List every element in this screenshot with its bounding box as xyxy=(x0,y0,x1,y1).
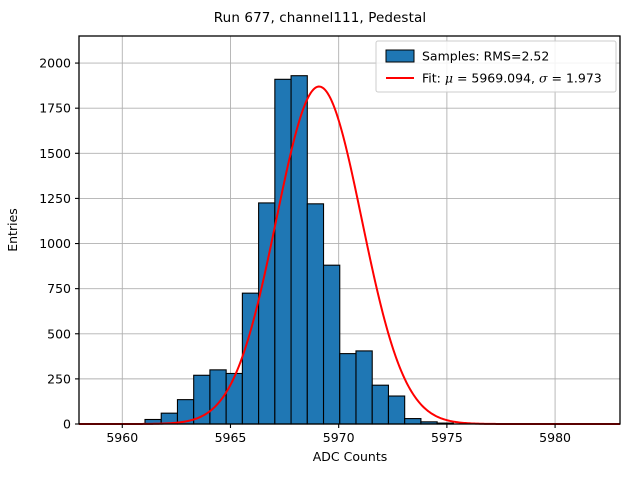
x-tick-label: 5960 xyxy=(106,430,138,445)
x-axis-ticks: 59605965597059755980 xyxy=(106,424,571,445)
chart-legend: Samples: RMS=2.52Fit: μ = 5969.094, σ = … xyxy=(376,41,616,92)
histogram-bar xyxy=(405,419,421,424)
y-tick-label: 750 xyxy=(47,281,71,296)
histogram-bar xyxy=(226,373,242,424)
plot-canvas: 59605965597059755980 0250500750100012501… xyxy=(0,0,640,480)
legend-swatch-samples xyxy=(386,50,414,62)
y-tick-label: 2000 xyxy=(39,56,71,71)
x-tick-label: 5980 xyxy=(539,430,571,445)
histogram-figure: Run 677, channel111, Pedestal 5960596559… xyxy=(0,0,640,480)
x-tick-label: 5970 xyxy=(323,430,355,445)
y-tick-label: 500 xyxy=(47,326,71,341)
y-tick-label: 1000 xyxy=(39,236,71,251)
histogram-bar xyxy=(324,265,340,424)
x-tick-label: 5965 xyxy=(215,430,247,445)
histogram-bar xyxy=(275,79,291,424)
y-axis-ticks: 025050075010001250150017502000 xyxy=(39,56,79,432)
x-axis-label: ADC Counts xyxy=(313,449,388,464)
histogram-bars xyxy=(145,76,453,424)
y-tick-label: 1500 xyxy=(39,146,71,161)
histogram-bar xyxy=(356,351,372,424)
x-tick-label: 5975 xyxy=(431,430,463,445)
histogram-bar xyxy=(372,385,388,424)
y-tick-label: 0 xyxy=(63,417,71,432)
y-tick-label: 1250 xyxy=(39,191,71,206)
legend-label-fit: Fit: μ = 5969.094, σ = 1.973 xyxy=(422,71,602,86)
legend-label-samples: Samples: RMS=2.52 xyxy=(422,49,549,64)
histogram-bar xyxy=(307,204,323,424)
histogram-bar xyxy=(340,354,356,424)
y-axis-label: Entries xyxy=(5,208,20,252)
y-tick-label: 250 xyxy=(47,371,71,386)
histogram-bar xyxy=(291,76,307,424)
y-tick-label: 1750 xyxy=(39,101,71,116)
histogram-bar xyxy=(388,396,404,424)
